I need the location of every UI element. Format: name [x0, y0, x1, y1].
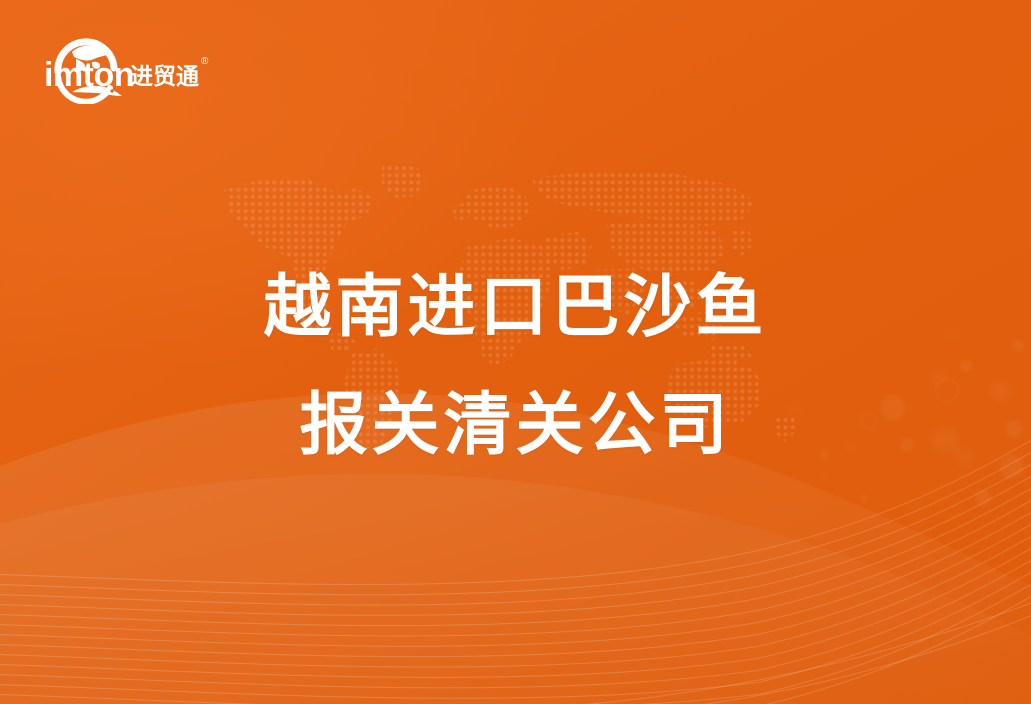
logo-chinese-name: 进贸通 — [130, 63, 199, 89]
brand-logo[interactable]: imton 进贸通 ® — [38, 26, 218, 104]
headline-block: 越南进口巴沙鱼 报关清关公司 — [0, 248, 1031, 484]
promo-banner: imton 进贸通 ® 越南进口巴沙鱼 报关清关公司 — [0, 0, 1031, 704]
headline-line-1: 越南进口巴沙鱼 — [0, 248, 1031, 366]
headline-line-2: 报关清关公司 — [0, 366, 1031, 484]
logo-wordmark: imton — [44, 56, 134, 94]
registered-trademark-icon: ® — [201, 56, 209, 67]
